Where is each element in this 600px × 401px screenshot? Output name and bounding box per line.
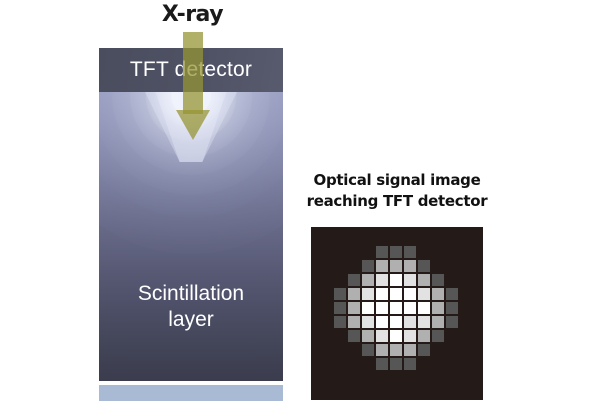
- pixel-cell: [431, 245, 445, 259]
- pixel-cell: [403, 287, 417, 301]
- pixel-cell: [347, 273, 361, 287]
- pixel-cell: [403, 273, 417, 287]
- optical-signal-caption: Optical signal imagereaching TFT detecto…: [297, 170, 497, 212]
- pixel-cell: [417, 315, 431, 329]
- pixel-cell: [375, 245, 389, 259]
- pixel-cell: [361, 287, 375, 301]
- pixel-cell: [347, 301, 361, 315]
- pixel-cell: [333, 287, 347, 301]
- pixel-cell: [389, 315, 403, 329]
- pixel-cell: [333, 259, 347, 273]
- pixel-cell: [431, 259, 445, 273]
- pixel-cell: [361, 357, 375, 371]
- pixel-cell: [375, 259, 389, 273]
- pixel-cell: [445, 245, 459, 259]
- pixel-cell: [417, 357, 431, 371]
- pixel-cell: [431, 301, 445, 315]
- pixel-cell: [347, 259, 361, 273]
- pixel-cell: [361, 259, 375, 273]
- pixel-cell: [333, 315, 347, 329]
- tft-detector-label: TFT detector: [130, 58, 252, 82]
- pixel-cell: [361, 273, 375, 287]
- pixel-cell: [375, 329, 389, 343]
- pixel-cell: [375, 315, 389, 329]
- pixel-cell: [445, 273, 459, 287]
- pixel-cell: [333, 343, 347, 357]
- pixel-cell: [431, 273, 445, 287]
- pixel-cell: [361, 315, 375, 329]
- pixel-cell: [361, 329, 375, 343]
- pixel-cell: [347, 287, 361, 301]
- pixel-cell: [361, 343, 375, 357]
- pixel-cell: [403, 329, 417, 343]
- pixel-cell: [417, 259, 431, 273]
- pixel-cell: [333, 329, 347, 343]
- pixel-cell: [431, 315, 445, 329]
- pixel-cell: [375, 357, 389, 371]
- pixel-cell: [445, 301, 459, 315]
- pixel-cell: [445, 343, 459, 357]
- pixel-cell: [389, 301, 403, 315]
- pixel-cell: [431, 329, 445, 343]
- optical-signal-image-panel: [311, 227, 483, 400]
- pixel-cell: [361, 245, 375, 259]
- pixel-cell: [333, 301, 347, 315]
- pixel-cell: [417, 287, 431, 301]
- substrate-strip: [99, 385, 283, 401]
- scintillation-layer-label: Scintillationlayer: [99, 281, 283, 333]
- pixel-cell: [375, 301, 389, 315]
- pixel-cell: [403, 315, 417, 329]
- pixel-cell: [403, 245, 417, 259]
- pixel-cell: [417, 301, 431, 315]
- pixel-cell: [403, 343, 417, 357]
- pixel-cell: [403, 259, 417, 273]
- pixel-cell: [389, 287, 403, 301]
- pixel-cell: [417, 343, 431, 357]
- pixel-cell: [375, 343, 389, 357]
- pixel-cell: [361, 301, 375, 315]
- pixel-cell: [347, 315, 361, 329]
- pixel-cell: [445, 357, 459, 371]
- pixel-cell: [347, 245, 361, 259]
- pixel-cell: [389, 343, 403, 357]
- xray-label: X-ray: [0, 2, 385, 27]
- pixel-cell: [375, 273, 389, 287]
- pixel-cell: [445, 315, 459, 329]
- tft-detector-bar: TFT detector: [99, 48, 283, 92]
- pixel-cell: [431, 357, 445, 371]
- pixel-cell: [403, 301, 417, 315]
- pixel-cell: [431, 343, 445, 357]
- detector-diagram: TFT detector Scintillationlayer: [99, 48, 283, 400]
- pixel-cell: [403, 357, 417, 371]
- pixel-cell: [445, 287, 459, 301]
- pixel-cell: [389, 245, 403, 259]
- pixel-cell: [417, 329, 431, 343]
- pixel-cell: [389, 259, 403, 273]
- pixel-cell: [347, 329, 361, 343]
- pixel-cell: [431, 287, 445, 301]
- pixel-cell: [417, 273, 431, 287]
- pixel-cell: [375, 287, 389, 301]
- pixel-cell: [389, 273, 403, 287]
- pixel-cell: [347, 357, 361, 371]
- pixel-cell: [333, 357, 347, 371]
- pixel-cell: [445, 259, 459, 273]
- pixel-cell: [417, 245, 431, 259]
- pixel-heatmap-grid: [333, 245, 459, 371]
- pixel-cell: [445, 329, 459, 343]
- pixel-cell: [333, 245, 347, 259]
- pixel-cell: [347, 343, 361, 357]
- pixel-cell: [333, 273, 347, 287]
- pixel-cell: [389, 357, 403, 371]
- pixel-cell: [389, 329, 403, 343]
